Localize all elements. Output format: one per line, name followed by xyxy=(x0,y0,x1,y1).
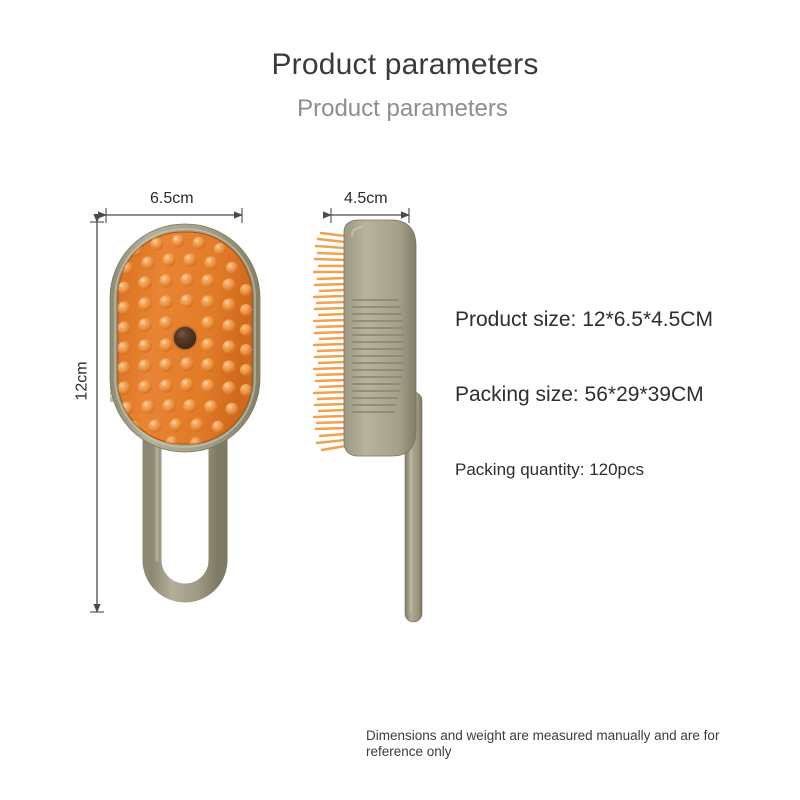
loop-handle xyxy=(152,430,218,593)
brush-front-view xyxy=(110,224,260,593)
dimension-arrow-front-width xyxy=(106,208,242,223)
center-hole xyxy=(172,325,198,351)
side-body xyxy=(344,220,416,456)
brush-side-view xyxy=(314,220,422,622)
product-illustration xyxy=(0,0,800,800)
side-bristles xyxy=(314,233,345,450)
dimension-arrow-front-height xyxy=(90,222,104,612)
